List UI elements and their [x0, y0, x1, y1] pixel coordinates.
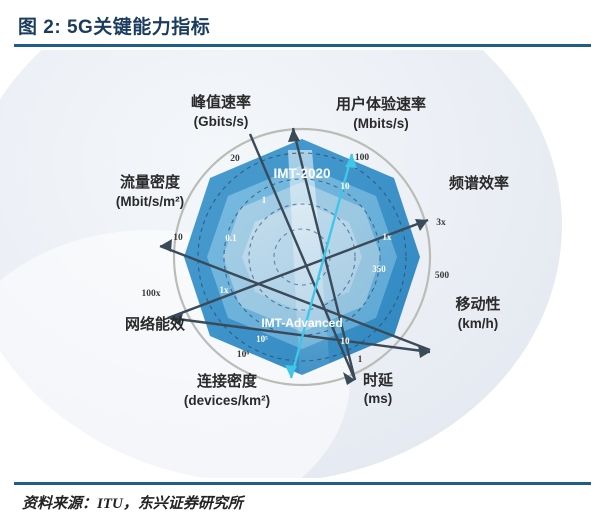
tick-outer-spectrum-efficiency: 3x — [436, 218, 446, 228]
tick-inner-peak-data-rate: 1 — [262, 195, 267, 205]
tick-inner-connection-density: 10⁵ — [256, 334, 268, 344]
source-divider-bottom — [14, 482, 591, 485]
axis-unit-area-traffic-capacity: (Mbit/s/m²) — [116, 194, 184, 209]
axis-unit-user-experienced-data-rate: (Mbits/s) — [353, 116, 409, 131]
axis-label-connection-density: 连接密度 — [197, 372, 258, 390]
axis-unit-mobility: (km/h) — [458, 316, 499, 331]
tick-inner-user-experienced-data-rate: 10 — [341, 181, 351, 191]
source-note: 资料来源：ITU，东兴证券研究所 — [22, 492, 243, 513]
tick-outer-user-experienced-data-rate: 100 — [355, 153, 370, 163]
tick-outer-mobility: 500 — [435, 271, 450, 281]
radar-chart-container: IMT-2020 IMT-Advanced 峰值速率 (Gbits/s) 20 … — [0, 50, 605, 478]
tick-inner-mobility: 350 — [372, 264, 386, 274]
axis-unit-connection-density: (devices/km²) — [184, 393, 270, 408]
tick-outer-connection-density: 10⁶ — [237, 350, 250, 360]
tick-inner-area-traffic-capacity: 0.1 — [225, 233, 237, 243]
axis-unit-latency: (ms) — [364, 391, 393, 406]
series-label-imt-2020: IMT-2020 — [273, 166, 330, 181]
tick-outer-latency: 1 — [358, 355, 363, 365]
axis-label-peak-data-rate: 峰值速率 — [191, 93, 251, 111]
title-divider-top — [14, 44, 591, 47]
series-label-imt-advanced: IMT-Advanced — [261, 316, 342, 330]
radar-chart-svg: IMT-2020 IMT-Advanced 峰值速率 (Gbits/s) 20 … — [0, 50, 605, 478]
axis-label-mobility: 移动性 — [455, 295, 500, 313]
axis-label-area-traffic-capacity: 流量密度 — [120, 173, 181, 191]
tick-outer-area-traffic-capacity: 10 — [173, 233, 183, 243]
tick-inner-spectrum-efficiency: 1x — [383, 232, 393, 242]
axis-label-latency: 时延 — [363, 371, 394, 389]
tick-inner-latency: 10 — [341, 336, 351, 346]
tick-outer-peak-data-rate: 20 — [230, 154, 240, 164]
axis-unit-peak-data-rate: (Gbits/s) — [194, 114, 249, 129]
axis-label-network-energy-efficiency: 网络能效 — [125, 315, 186, 333]
axis-label-spectrum-efficiency: 频谱效率 — [449, 174, 509, 192]
page-title: 图 2: 5G关键能力指标 — [18, 12, 210, 39]
tick-outer-network-energy-efficiency: 100x — [142, 289, 161, 299]
axis-label-user-experienced-data-rate: 用户体验速率 — [336, 95, 426, 113]
tick-inner-network-energy-efficiency: 1x — [220, 285, 230, 295]
